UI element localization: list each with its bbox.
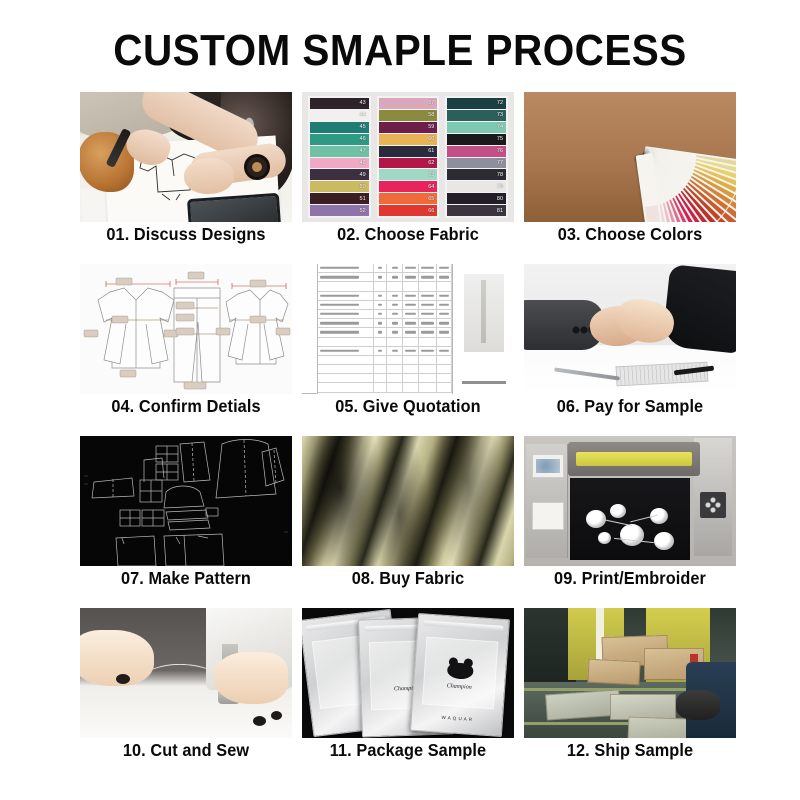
table-cell <box>387 338 403 346</box>
fabric-swatch: 48 <box>310 158 369 169</box>
table-row <box>318 365 452 374</box>
table-cell <box>318 347 374 355</box>
page-title: CUSTOM SMAPLE PROCESS <box>32 26 768 76</box>
fabric-swatch: 76 <box>447 146 506 157</box>
table-cell <box>419 282 437 290</box>
table-cell <box>318 273 374 281</box>
process-infographic: CUSTOM SMAPLE PROCESS <box>0 0 800 800</box>
step-11-caption: 11. Package Sample <box>309 740 506 761</box>
fabric-swatch: 66 <box>379 205 438 216</box>
garment-figure <box>464 274 504 352</box>
swatch-label: 63 <box>428 172 434 178</box>
table-cell <box>374 273 387 281</box>
swatch-label: 64 <box>428 184 434 190</box>
table-row <box>318 319 452 328</box>
table-cell <box>437 301 452 309</box>
table-cell <box>318 383 374 391</box>
panel-note <box>462 381 506 384</box>
process-step-02[interactable]: 43444546474849505152 5758596061626364656… <box>302 92 514 264</box>
fabric-swatch-book: 43444546474849505152 5758596061626364656… <box>302 92 514 222</box>
table-cell <box>437 374 452 382</box>
process-steps-grid: 01. Discuss Designs 43444546474849505152… <box>80 92 736 780</box>
table-row-header <box>302 264 318 394</box>
process-step-10[interactable]: 10. Cut and Sew <box>80 608 292 780</box>
step-01-image <box>80 92 292 222</box>
swatch-label: 46 <box>360 136 366 142</box>
table-cell <box>403 365 419 373</box>
table-cell <box>374 264 387 272</box>
table-cell <box>403 356 419 364</box>
table-cell <box>419 374 437 382</box>
fabric-swatch: 59 <box>379 122 438 133</box>
table-row <box>318 383 452 392</box>
table-row <box>318 292 452 301</box>
fabric-swatch: 72 <box>447 98 506 109</box>
step-01-caption: 01. Discuss Designs <box>87 224 284 245</box>
printer-control-pad <box>700 492 726 518</box>
swatch-column-3: 72737475767778798081 <box>445 96 508 218</box>
fabric-swatch: 74 <box>447 122 506 133</box>
swatch-label: 80 <box>497 196 503 202</box>
table-cell <box>318 319 374 327</box>
table-row <box>318 310 452 319</box>
table-cell <box>403 328 419 336</box>
table-row <box>318 374 452 383</box>
fabric-swatch: 80 <box>447 193 506 204</box>
fabric-swatch: 79 <box>447 181 506 192</box>
swatch-label: 65 <box>428 196 434 202</box>
quotation-spreadsheet <box>302 264 514 394</box>
pattern-pieces <box>80 436 292 566</box>
fabric-swatch: 44 <box>310 110 369 121</box>
swatch-label: 61 <box>428 148 434 154</box>
swatch-column-1: 43444546474849505152 <box>308 96 371 218</box>
table-cell <box>437 273 452 281</box>
step-11-image: Champion Champion W A Q U A R <box>302 608 514 738</box>
table-cell <box>403 301 419 309</box>
process-step-05[interactable]: 05. Give Quotation <box>302 264 514 436</box>
table-cell <box>318 328 374 336</box>
floral-print <box>580 502 680 554</box>
table-cell <box>403 264 419 272</box>
table-cell <box>387 374 403 382</box>
swatch-label: 76 <box>497 148 503 154</box>
cost-table <box>302 264 452 394</box>
fabric-swatch: 64 <box>379 181 438 192</box>
fabric-swatch: 63 <box>379 169 438 180</box>
fabric-swatch: 49 <box>310 169 369 180</box>
table-cell <box>437 365 452 373</box>
fabric-swatch: 43 <box>310 98 369 109</box>
process-step-11[interactable]: Champion Champion W A Q U A R 11. Packag… <box>302 608 514 780</box>
process-step-12[interactable]: 12. Ship Sample <box>524 608 736 780</box>
step-03-caption: 03. Choose Colors <box>531 224 728 245</box>
table-cell <box>437 338 452 346</box>
table-cell <box>419 328 437 336</box>
table-cell <box>318 374 374 382</box>
table-cell <box>419 356 437 364</box>
table-row <box>318 273 452 282</box>
table-cell <box>318 292 374 300</box>
step-06-caption: 06. Pay for Sample <box>531 396 728 417</box>
swatch-label: 62 <box>428 160 434 166</box>
swatch-label: 44 <box>360 112 366 118</box>
table-cell <box>387 282 403 290</box>
olive-satin-fabric <box>302 436 514 566</box>
fabric-swatch: 62 <box>379 158 438 169</box>
swatch-label: 49 <box>360 172 366 178</box>
table-cell <box>318 282 374 290</box>
dtg-printer-illustration <box>524 436 736 566</box>
table-row <box>318 328 452 337</box>
fabric-swatch: 45 <box>310 122 369 133</box>
table-cell <box>437 310 452 318</box>
table-cell <box>437 328 452 336</box>
fabric-swatch: 58 <box>379 110 438 121</box>
swatch-label: 43 <box>360 100 366 106</box>
shipping-warehouse-illustration <box>524 608 736 738</box>
process-step-03[interactable]: 03. Choose Colors <box>524 92 736 264</box>
step-02-image: 43444546474849505152 5758596061626364656… <box>302 92 514 222</box>
swatch-label: 52 <box>360 208 366 214</box>
table-cell <box>374 328 387 336</box>
swatch-label: 50 <box>360 184 366 190</box>
table-cell <box>387 264 403 272</box>
swatch-label: 48 <box>360 160 366 166</box>
table-cell <box>318 338 374 346</box>
table-cell <box>387 356 403 364</box>
discuss-designs-illustration <box>80 92 292 222</box>
table-cell <box>419 365 437 373</box>
fabric-swatch: 81 <box>447 205 506 216</box>
process-step-07[interactable]: 07. Make Pattern <box>80 436 292 608</box>
process-step-04[interactable]: 04. Confirm Detials <box>80 264 292 436</box>
table-cell <box>437 282 452 290</box>
swatch-label: 74 <box>497 124 503 130</box>
fabric-swatch: 47 <box>310 146 369 157</box>
table-cell <box>437 347 452 355</box>
table-cell <box>419 383 437 391</box>
table-cell <box>437 356 452 364</box>
table-cell <box>419 310 437 318</box>
table-cell <box>419 264 437 272</box>
table-row <box>318 338 452 347</box>
step-05-image <box>302 264 514 394</box>
table-cell <box>374 383 387 391</box>
table-cell <box>437 264 452 272</box>
swatch-label: 75 <box>497 136 503 142</box>
technical-flat-sketches <box>80 264 292 394</box>
fabric-swatch: 52 <box>310 205 369 216</box>
table-cell <box>374 338 387 346</box>
table-row <box>318 264 452 273</box>
swatch-label: 57 <box>428 100 434 106</box>
table-cell <box>387 273 403 281</box>
swatch-label: 66 <box>428 208 434 214</box>
table-cell <box>374 365 387 373</box>
swatch-column-2: 57585960616263646566 <box>377 96 440 218</box>
table-cell <box>437 292 452 300</box>
step-10-image <box>80 608 292 738</box>
table-cell <box>374 374 387 382</box>
swatch-label: 78 <box>497 172 503 178</box>
process-step-06[interactable]: 06. Pay for Sample <box>524 264 736 436</box>
step-04-caption: 04. Confirm Detials <box>87 396 284 417</box>
swatch-label: 47 <box>360 148 366 154</box>
table-cell <box>419 301 437 309</box>
process-step-01[interactable]: 01. Discuss Designs <box>80 92 292 264</box>
table-cell <box>374 310 387 318</box>
table-cell <box>419 319 437 327</box>
table-cell <box>318 264 374 272</box>
swatch-label: 72 <box>497 100 503 106</box>
cad-pattern-screen <box>80 436 292 566</box>
swatch-label: 59 <box>428 124 434 130</box>
fabric-swatch: 78 <box>447 169 506 180</box>
fabric-swatch: 51 <box>310 193 369 204</box>
table-rows <box>318 264 452 394</box>
fabric-swatch: 50 <box>310 181 369 192</box>
swatch-label: 77 <box>497 160 503 166</box>
table-cell <box>387 319 403 327</box>
swatch-label: 81 <box>497 208 503 214</box>
step-12-image <box>524 608 736 738</box>
fabric-swatch: 65 <box>379 193 438 204</box>
table-cell <box>403 383 419 391</box>
table-cell <box>419 292 437 300</box>
step-06-image <box>524 264 736 394</box>
step-08-caption: 08. Buy Fabric <box>309 568 506 589</box>
table-cell <box>403 310 419 318</box>
table-cell <box>387 310 403 318</box>
swatch-label: 51 <box>360 196 366 202</box>
table-cell <box>374 319 387 327</box>
poly-bags-illustration: Champion Champion W A Q U A R <box>302 608 514 738</box>
table-cell <box>387 347 403 355</box>
fan-blades <box>524 92 736 222</box>
table-cell <box>437 319 452 327</box>
step-09-caption: 09. Print/Embroider <box>531 568 728 589</box>
color-fan-deck <box>524 92 736 222</box>
fabric-swatch: 61 <box>379 146 438 157</box>
process-step-08[interactable]: 08. Buy Fabric <box>302 436 514 608</box>
fabric-swatch: 77 <box>447 158 506 169</box>
fabric-swatch: 75 <box>447 134 506 145</box>
table-cell <box>374 356 387 364</box>
handshake-illustration <box>524 264 736 394</box>
table-cell <box>403 319 419 327</box>
table-cell <box>403 338 419 346</box>
swatch-label: 79 <box>497 184 503 190</box>
table-cell <box>387 328 403 336</box>
swatch-label: 45 <box>360 124 366 130</box>
table-cell <box>374 301 387 309</box>
garment-preview-panel <box>452 264 514 394</box>
table-cell <box>374 292 387 300</box>
fabric-swatch: 60 <box>379 134 438 145</box>
table-row <box>318 347 452 356</box>
step-02-caption: 02. Choose Fabric <box>309 224 506 245</box>
fabric-swatch: 46 <box>310 134 369 145</box>
step-09-image <box>524 436 736 566</box>
garment-spec-drawing <box>80 264 292 394</box>
table-cell <box>387 301 403 309</box>
table-cell <box>403 347 419 355</box>
table-cell <box>387 365 403 373</box>
step-07-caption: 07. Make Pattern <box>87 568 284 589</box>
swatch-label: 60 <box>428 136 434 142</box>
table-row <box>318 356 452 365</box>
sewing-machine-illustration <box>80 608 292 738</box>
table-cell <box>318 310 374 318</box>
table-cell <box>419 273 437 281</box>
step-05-caption: 05. Give Quotation <box>309 396 506 417</box>
fabric-swatch: 73 <box>447 110 506 121</box>
table-cell <box>387 292 403 300</box>
table-cell <box>403 292 419 300</box>
table-cell <box>403 282 419 290</box>
step-10-caption: 10. Cut and Sew <box>87 740 284 761</box>
table-cell <box>419 338 437 346</box>
step-12-caption: 12. Ship Sample <box>531 740 728 761</box>
step-07-image <box>80 436 292 566</box>
step-08-image <box>302 436 514 566</box>
table-cell <box>419 347 437 355</box>
table-cell <box>387 383 403 391</box>
table-cell <box>374 347 387 355</box>
table-cell <box>403 273 419 281</box>
swatch-label: 58 <box>428 112 434 118</box>
table-row <box>318 301 452 310</box>
poly-bag: Champion W A Q U A R <box>410 613 510 737</box>
table-cell <box>403 374 419 382</box>
table-cell <box>318 301 374 309</box>
swatch-label: 73 <box>497 112 503 118</box>
step-03-image <box>524 92 736 222</box>
table-cell <box>318 365 374 373</box>
table-cell <box>437 383 452 391</box>
step-04-image <box>80 264 292 394</box>
table-row <box>318 282 452 291</box>
fabric-swatch: 57 <box>379 98 438 109</box>
table-cell <box>318 356 374 364</box>
table-cell <box>374 282 387 290</box>
process-step-09[interactable]: 09. Print/Embroider <box>524 436 736 608</box>
